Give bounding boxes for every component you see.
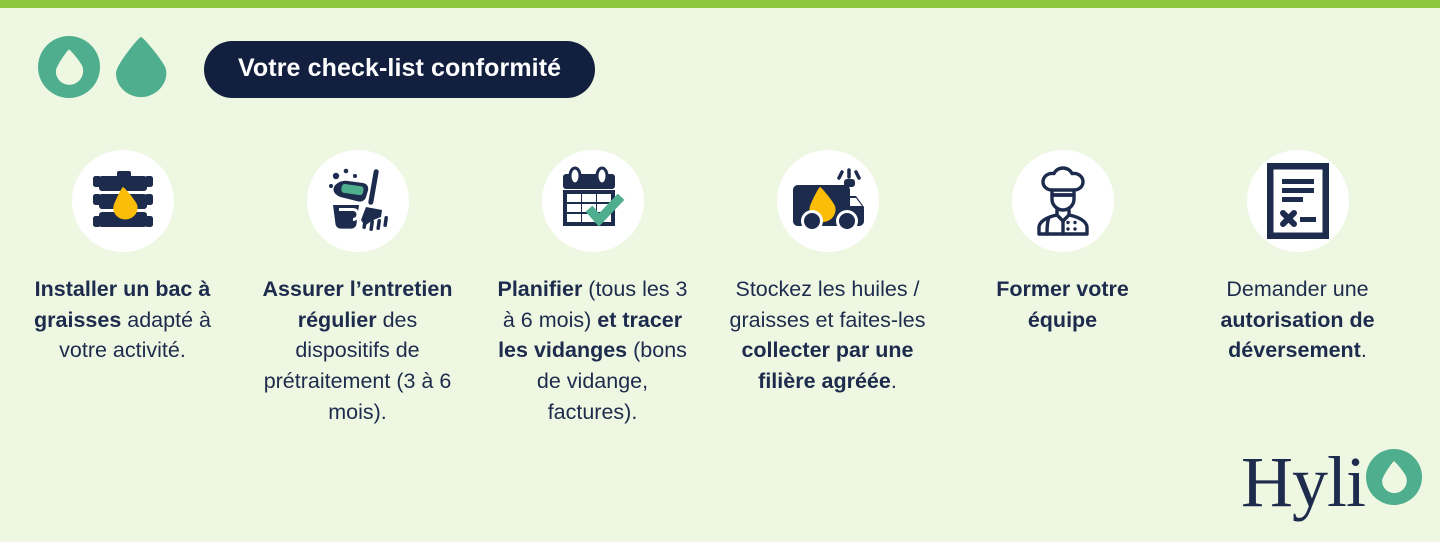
step-text-plain: . bbox=[1361, 338, 1367, 362]
permit-document-icon bbox=[1267, 163, 1329, 239]
top-accent-bar bbox=[0, 0, 1440, 8]
step-text-plain: Stockez les huiles / graisses et faites-… bbox=[730, 277, 926, 332]
step-text-emphasis: Planifier bbox=[497, 277, 582, 301]
droplet-ring-o-icon bbox=[1366, 449, 1422, 510]
step-icon-background bbox=[1012, 150, 1114, 252]
step-icon-background bbox=[72, 150, 174, 252]
step-text: Stockez les huiles / graisses et faites-… bbox=[728, 274, 928, 397]
droplet-ring-mark bbox=[38, 36, 100, 103]
checklist-steps: Installer un bac à graisses adapté à vot… bbox=[5, 150, 1435, 428]
step-icon-background bbox=[1247, 150, 1349, 252]
step-icon-background bbox=[777, 150, 879, 252]
hylio-logo: Hyli bbox=[1241, 449, 1422, 514]
step-text-plain: . bbox=[891, 369, 897, 393]
step-item: Planifier (tous les 3 à 6 mois) et trace… bbox=[475, 150, 710, 428]
step-text: Demander une autorisation de déversement… bbox=[1198, 274, 1398, 366]
step-text-emphasis: collecter par une filière agréée bbox=[741, 338, 913, 393]
logo-wordmark: Hyli bbox=[1241, 452, 1365, 514]
step-text: Former votre équipe bbox=[963, 274, 1163, 335]
collection-truck-icon bbox=[789, 166, 867, 236]
step-text: Assurer l’entretien régulier des disposi… bbox=[258, 274, 458, 428]
step-text: Installer un bac à graisses adapté à vot… bbox=[23, 274, 223, 366]
step-item: Stockez les huiles / graisses et faites-… bbox=[710, 150, 945, 428]
step-text-emphasis: Assurer l’entretien régulier bbox=[263, 277, 453, 332]
step-item: Assurer l’entretien régulier des disposi… bbox=[240, 150, 475, 428]
step-icon-background: Former votre équipe bbox=[945, 150, 1180, 428]
step-text: Planifier (tous les 3 à 6 mois) et trace… bbox=[493, 274, 693, 428]
step-text-plain: Demander une bbox=[1226, 277, 1368, 301]
chef-icon bbox=[1027, 165, 1099, 237]
calendar-check-icon bbox=[556, 164, 630, 238]
header: Votre check-list conformité bbox=[38, 36, 595, 103]
step-icon-background bbox=[307, 150, 409, 252]
droplet-solid-mark bbox=[114, 36, 168, 103]
step-item: Demander une autorisation de déversement… bbox=[1180, 150, 1415, 428]
step-item: Installer un bac à graisses adapté à vot… bbox=[5, 150, 240, 428]
cleaning-supplies-icon bbox=[322, 165, 394, 237]
step-text-emphasis: Former votre équipe bbox=[996, 277, 1129, 332]
oil-barrel-icon bbox=[87, 165, 159, 237]
step-text-emphasis: autorisation de déversement bbox=[1220, 308, 1374, 363]
header-badge: Votre check-list conformité bbox=[204, 41, 595, 98]
step-icon-background bbox=[542, 150, 644, 252]
